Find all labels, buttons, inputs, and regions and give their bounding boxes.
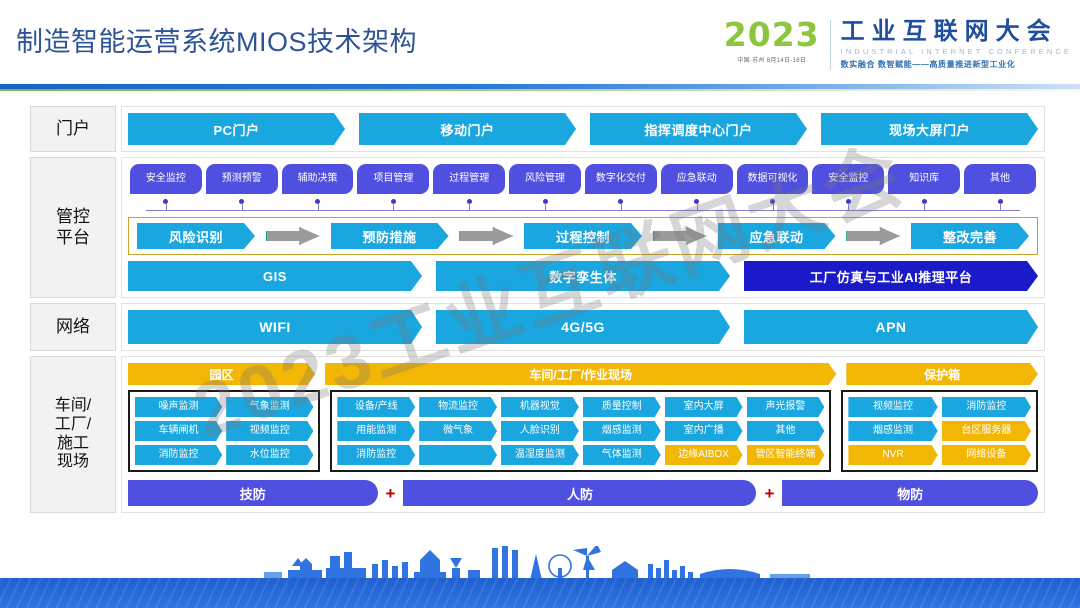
platform-tag-list: 安全监控预测预警辅助决策项目管理过程管理风险管理数字化交付应急联动数据可视化安全…: [128, 164, 1038, 194]
row-label-platform: 管控 平台: [30, 157, 116, 298]
site-group-grid-2: 视频监控消防监控烟感监测台区服务器NVR网络设备: [848, 397, 1031, 465]
platform-tag-10[interactable]: 知识库: [888, 164, 960, 194]
site-cell-1-1[interactable]: 物流监控: [419, 397, 497, 417]
tag-connector-stem-9: [848, 203, 849, 211]
conference-logo: 2023 中国·苏州 8月14日-18日 工业互联网大会 INDUSTRIAL …: [724, 18, 1072, 70]
platform-tag-0[interactable]: 安全监控: [130, 164, 202, 194]
skyline-icon: [0, 546, 1080, 580]
logo-name-block: 工业互联网大会 INDUSTRIAL INTERNET CONFERENCE 数…: [841, 18, 1072, 70]
site-cell-1-5[interactable]: 声光报警: [747, 397, 825, 417]
platform-tag-9[interactable]: 安全监控: [812, 164, 884, 194]
site-cell-1-3[interactable]: 质量控制: [583, 397, 661, 417]
platform-capability-list: GIS数字孪生体工厂仿真与工业AI推理平台: [128, 261, 1038, 291]
site-cell-0-3[interactable]: 视频监控: [226, 421, 313, 441]
portal-button-3[interactable]: 现场大屏门户: [821, 113, 1038, 145]
site-cell-1-13[interactable]: [419, 445, 497, 465]
site-cell-2-2[interactable]: 烟感监测: [848, 421, 937, 441]
site-cell-1-11[interactable]: 其他: [747, 421, 825, 441]
portal-item-list: PC门户移动门户指挥调度中心门户现场大屏门户: [128, 113, 1038, 145]
site-group-1: 设备/产线物流监控机器视觉质量控制室内大屏声光报警用能监测微气象人脸识别烟感监测…: [330, 390, 831, 472]
site-cell-1-12[interactable]: 消防监控: [337, 445, 415, 465]
logo-date: 中国·苏州 8月14日-18日: [724, 55, 820, 64]
site-cell-1-7[interactable]: 微气象: [419, 421, 497, 441]
platform-tag-1[interactable]: 预测预警: [206, 164, 278, 194]
platform-tag-8[interactable]: 数据可视化: [737, 164, 809, 194]
platform-tag-2[interactable]: 辅助决策: [282, 164, 354, 194]
row-label-site-line3: 施工: [57, 435, 89, 452]
site-cell-0-2[interactable]: 车辆闸机: [135, 421, 222, 441]
footer-sea: [0, 578, 1080, 608]
flow-arrow-4: [846, 227, 900, 245]
row-body-portal: PC门户移动门户指挥调度中心门户现场大屏门户: [121, 106, 1045, 152]
logo-divider: [830, 20, 831, 70]
defense-plus-2: +: [764, 485, 774, 502]
flow-step-4[interactable]: 整改完善: [911, 223, 1029, 249]
flow-arrow-3: [653, 227, 707, 245]
defense-plus-1: +: [386, 485, 396, 502]
row-label-network: 网络: [30, 303, 116, 351]
site-cell-2-5[interactable]: 网络设备: [942, 445, 1031, 465]
row-network: 网络 WIFI4G/5GAPN: [30, 303, 1045, 351]
row-label-site-line1: 车间/: [55, 397, 91, 414]
defense-bar-list: 技防+人防+物防: [128, 480, 1038, 506]
portal-button-2[interactable]: 指挥调度中心门户: [590, 113, 807, 145]
site-cell-1-9[interactable]: 烟感监测: [583, 421, 661, 441]
row-label-site-line4: 现场: [57, 453, 89, 470]
site-cell-0-5[interactable]: 水位监控: [226, 445, 313, 465]
tag-connector-stem-5: [545, 203, 546, 211]
site-cell-1-0[interactable]: 设备/产线: [337, 397, 415, 417]
site-cell-1-4[interactable]: 室内大屏: [665, 397, 743, 417]
defense-bar-1[interactable]: 人防: [403, 480, 756, 506]
flow-arrow-2: [459, 227, 513, 245]
footer-art: [0, 546, 1080, 608]
platform-tag-6[interactable]: 数字化交付: [585, 164, 657, 194]
platform-tag-connectors: [128, 199, 1038, 211]
tag-connector-stem-6: [621, 203, 622, 211]
tag-connector-stem-1: [242, 203, 243, 211]
row-label-portal: 门户: [30, 106, 116, 152]
site-group-header-1: 车间/工厂/作业现场: [325, 363, 836, 385]
tag-connector-stem-4: [469, 203, 470, 211]
flow-step-2[interactable]: 过程控制: [524, 223, 642, 249]
site-cell-0-4[interactable]: 消防监控: [135, 445, 222, 465]
network-item-list: WIFI4G/5GAPN: [128, 310, 1038, 344]
site-cell-1-8[interactable]: 人脸识别: [501, 421, 579, 441]
site-group-grid-1: 设备/产线物流监控机器视觉质量控制室内大屏声光报警用能监测微气象人脸识别烟感监测…: [337, 397, 824, 465]
platform-tag-4[interactable]: 过程管理: [433, 164, 505, 194]
platform-tag-3[interactable]: 项目管理: [357, 164, 429, 194]
site-group-0: 噪声监测气象监测车辆闸机视频监控消防监控水位监控: [128, 390, 320, 472]
portal-button-0[interactable]: PC门户: [128, 113, 345, 145]
site-cell-2-3[interactable]: 台区服务器: [942, 421, 1031, 441]
logo-name-cn: 工业互联网大会: [841, 18, 1072, 46]
site-cell-1-10[interactable]: 室内广播: [665, 421, 743, 441]
flow-step-3[interactable]: 应急联动: [718, 223, 836, 249]
site-cell-0-1[interactable]: 气象监测: [226, 397, 313, 417]
platform-capability-1[interactable]: 数字孪生体: [436, 261, 730, 291]
tag-connector-stem-3: [393, 203, 394, 211]
network-button-2[interactable]: APN: [744, 310, 1038, 344]
portal-button-1[interactable]: 移动门户: [359, 113, 576, 145]
site-cell-1-6[interactable]: 用能监测: [337, 421, 415, 441]
logo-name-en: INDUSTRIAL INTERNET CONFERENCE: [841, 47, 1072, 56]
row-body-platform: 安全监控预测预警辅助决策项目管理过程管理风险管理数字化交付应急联动数据可视化安全…: [121, 157, 1045, 298]
header-rule-green: [0, 89, 1080, 91]
row-body-network: WIFI4G/5GAPN: [121, 303, 1045, 351]
row-platform: 管控 平台 安全监控预测预警辅助决策项目管理过程管理风险管理数字化交付应急联动数…: [30, 157, 1045, 298]
platform-capability-2[interactable]: 工厂仿真与工业AI推理平台: [744, 261, 1038, 291]
row-label-platform-line2: 平台: [56, 228, 90, 247]
site-cell-1-15[interactable]: 气体监测: [583, 445, 661, 465]
network-button-0[interactable]: WIFI: [128, 310, 422, 344]
site-group-grids: 噪声监测气象监测车辆闸机视频监控消防监控水位监控设备/产线物流监控机器视觉质量控…: [128, 390, 1038, 472]
site-group-grid-0: 噪声监测气象监测车辆闸机视频监控消防监控水位监控: [135, 397, 313, 465]
defense-bar-0[interactable]: 技防: [128, 480, 378, 506]
site-cell-2-4[interactable]: NVR: [848, 445, 937, 465]
platform-capability-0[interactable]: GIS: [128, 261, 422, 291]
logo-year: 2023: [724, 18, 820, 52]
platform-tag-11[interactable]: 其他: [964, 164, 1036, 194]
row-label-platform-line1: 管控: [56, 207, 90, 226]
platform-flow-strip: 风险识别预防措施过程控制应急联动整改完善: [128, 217, 1038, 255]
slide-header: 制造智能运营系统MIOS技术架构 2023 中国·苏州 8月14日-18日 工业…: [0, 0, 1080, 92]
tag-connector-stem-0: [166, 203, 167, 211]
logo-slogan: 数实融合 数智赋能——高质量推进新型工业化: [841, 59, 1072, 70]
site-group-2: 视频监控消防监控烟感监测台区服务器NVR网络设备: [841, 390, 1038, 472]
row-body-site: 园区车间/工厂/作业现场保护箱 噪声监测气象监测车辆闸机视频监控消防监控水位监控…: [121, 356, 1045, 513]
flow-arrow-1: [266, 227, 320, 245]
tag-connector-line: [146, 210, 1020, 211]
architecture-diagram: 门户 PC门户移动门户指挥调度中心门户现场大屏门户 管控 平台 安全监控预测预警…: [30, 106, 1045, 518]
defense-bar-2[interactable]: 物防: [782, 480, 1038, 506]
tag-connector-stem-11: [1000, 203, 1001, 211]
network-button-1[interactable]: 4G/5G: [436, 310, 730, 344]
site-cell-1-2[interactable]: 机器视觉: [501, 397, 579, 417]
platform-tag-5[interactable]: 风险管理: [509, 164, 581, 194]
row-label-site: 车间/ 工厂/ 施工 现场: [30, 356, 116, 513]
row-portal: 门户 PC门户移动门户指挥调度中心门户现场大屏门户: [30, 106, 1045, 152]
site-cell-1-16[interactable]: 边缘AIBOX: [665, 445, 743, 465]
site-cell-2-0[interactable]: 视频监控: [848, 397, 937, 417]
tag-connector-stem-8: [773, 203, 774, 211]
tag-connector-stem-7: [697, 203, 698, 211]
tag-connector-stem-10: [924, 203, 925, 211]
site-cell-2-1[interactable]: 消防监控: [942, 397, 1031, 417]
flow-step-1[interactable]: 预防措施: [331, 223, 449, 249]
site-group-header-0: 园区: [128, 363, 315, 385]
tag-connector-stem-2: [318, 203, 319, 211]
site-cell-1-17[interactable]: 管区智能终端: [747, 445, 825, 465]
page-title: 制造智能运营系统MIOS技术架构: [16, 20, 417, 59]
site-cell-1-14[interactable]: 温湿度监测: [501, 445, 579, 465]
logo-year-block: 2023 中国·苏州 8月14日-18日: [724, 18, 830, 64]
row-label-site-line2: 工厂/: [55, 416, 91, 433]
slide-root: 制造智能运营系统MIOS技术架构 2023 中国·苏州 8月14日-18日 工业…: [0, 0, 1080, 608]
row-site: 车间/ 工厂/ 施工 现场 园区车间/工厂/作业现场保护箱 噪声监测气象监测车辆…: [30, 356, 1045, 513]
site-cell-0-0[interactable]: 噪声监测: [135, 397, 222, 417]
flow-step-0[interactable]: 风险识别: [137, 223, 255, 249]
platform-tag-7[interactable]: 应急联动: [661, 164, 733, 194]
site-group-header-2: 保护箱: [846, 363, 1038, 385]
site-group-headers: 园区车间/工厂/作业现场保护箱: [128, 363, 1038, 385]
